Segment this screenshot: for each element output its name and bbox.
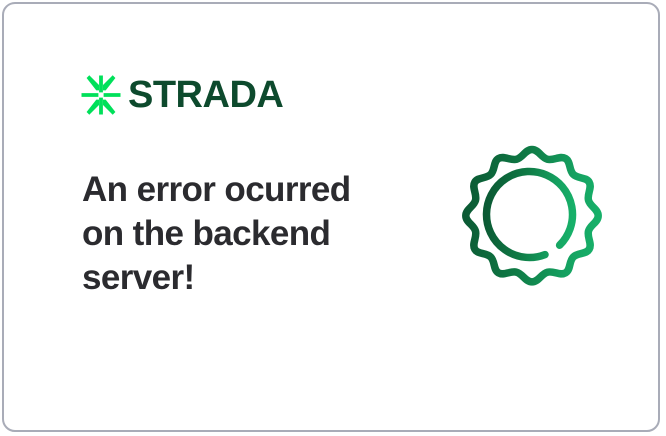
brand-logo: STRADA: [80, 72, 283, 118]
gear-icon: [449, 144, 615, 310]
brand-wordmark: STRADA: [128, 76, 283, 114]
error-message: An error ocurred on the backend server!: [82, 168, 382, 299]
strada-asterisk-icon: [80, 74, 122, 116]
error-card: STRADA An error ocurred on the backend s…: [2, 2, 660, 432]
